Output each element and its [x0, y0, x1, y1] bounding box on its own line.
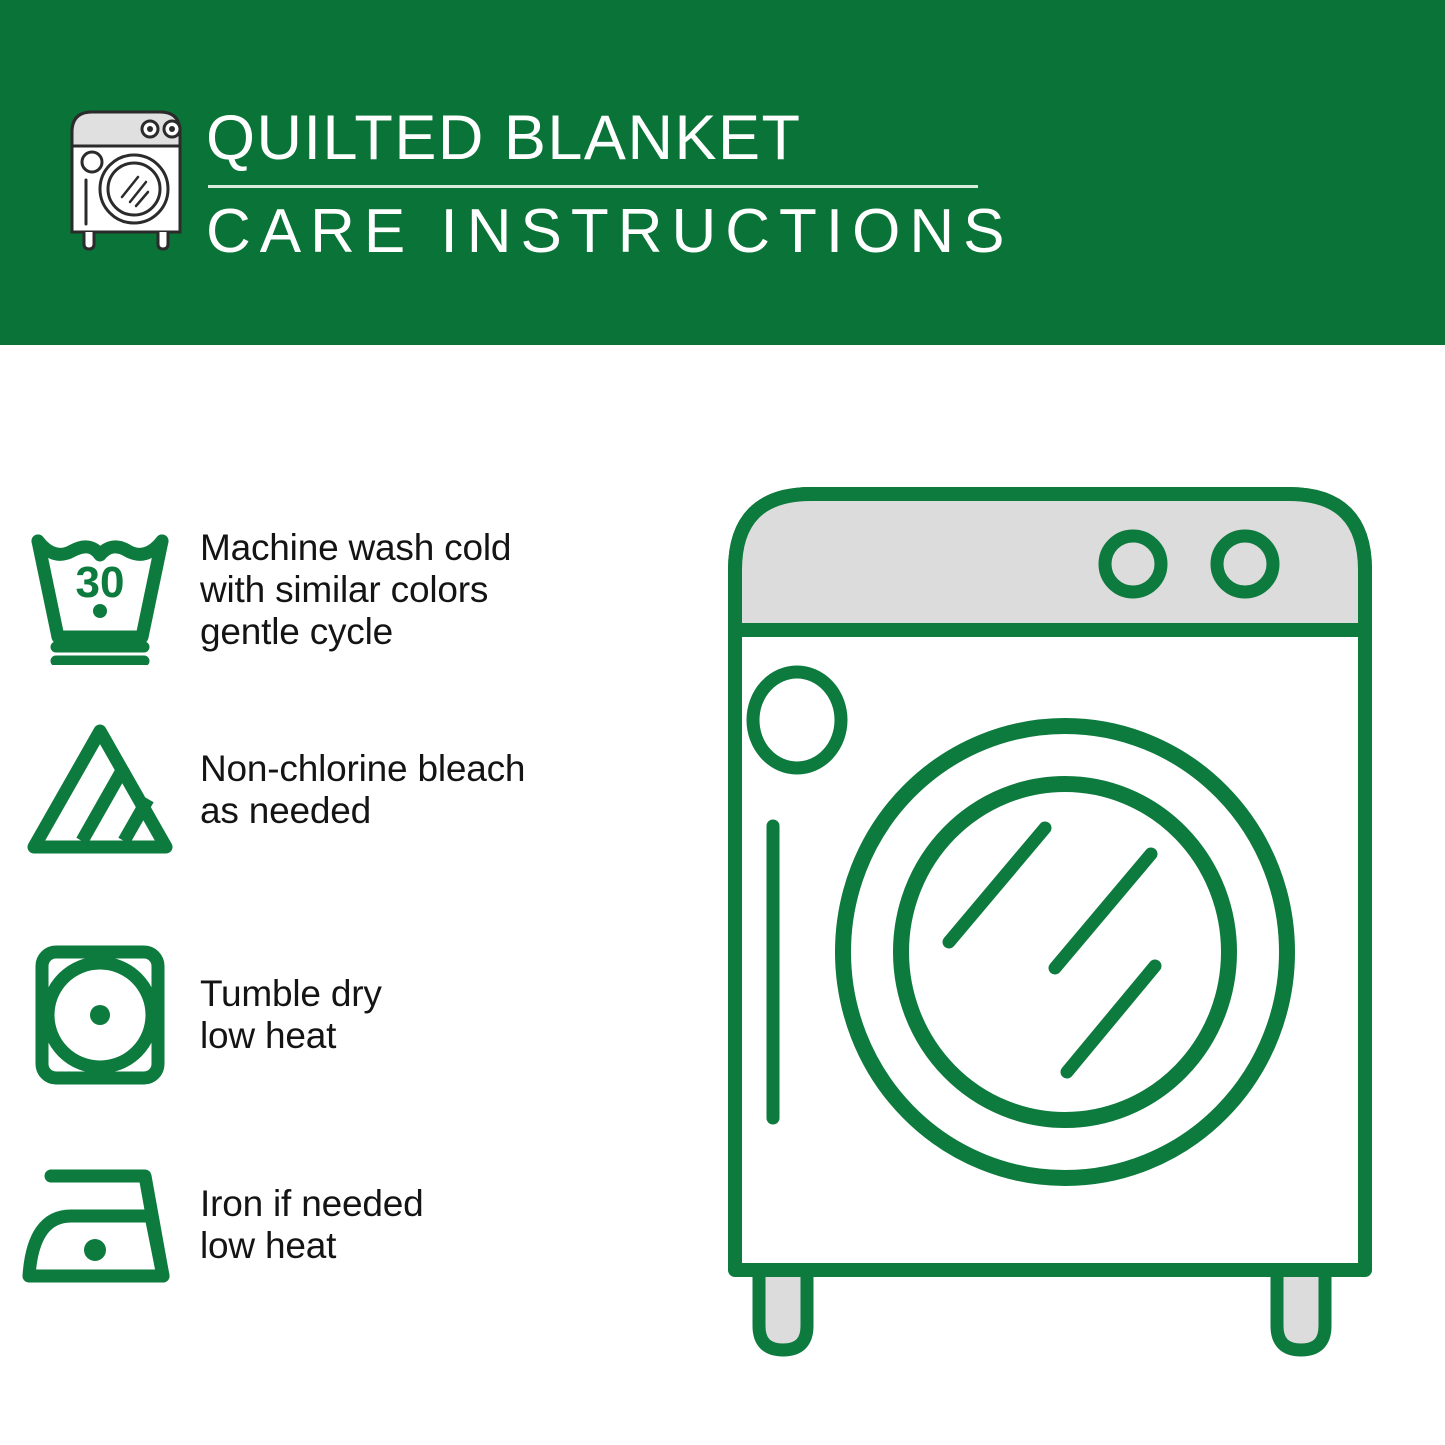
care-instructions-infographic: QUILTED BLANKET CARE INSTRUCTIONS 30 Mac… [0, 0, 1445, 1445]
care-text-bleach: Non-chlorine bleach as needed [200, 748, 525, 832]
care-text-line: with similar colors [200, 569, 511, 611]
machine-dial [753, 672, 841, 768]
care-text-tumble-dry: Tumble dry low heat [200, 973, 382, 1057]
washing-machine-icon [62, 102, 190, 252]
control-knob-2 [1217, 536, 1273, 592]
care-text-line: Tumble dry [200, 973, 382, 1015]
header-banner: QUILTED BLANKET CARE INSTRUCTIONS [0, 0, 1445, 345]
header-title-group: QUILTED BLANKET CARE INSTRUCTIONS [206, 100, 996, 270]
care-row-bleach: Non-chlorine bleach as needed [0, 700, 700, 880]
iron-low-heat-icon [0, 1160, 200, 1290]
bleach-triangle-icon [0, 715, 200, 865]
care-row-tumble-dry: Tumble dry low heat [0, 925, 700, 1105]
care-text-line: Non-chlorine bleach [200, 748, 525, 790]
page-title: QUILTED BLANKET [206, 100, 996, 176]
control-knob-1 [1105, 536, 1161, 592]
care-text-line: low heat [200, 1225, 423, 1267]
washing-machine-illustration [715, 470, 1415, 1370]
care-text-iron: Iron if needed low heat [200, 1183, 423, 1267]
care-row-iron: Iron if needed low heat [0, 1135, 700, 1315]
care-text-line: as needed [200, 790, 525, 832]
care-row-wash: 30 Machine wash cold with similar colors… [0, 495, 700, 685]
machine-legs [759, 1266, 1325, 1350]
title-divider [208, 185, 978, 188]
wash-basin-30-icon: 30 [0, 515, 200, 665]
care-text-line: gentle cycle [200, 611, 511, 653]
care-text-line: Iron if needed [200, 1183, 423, 1225]
wash-temperature-label: 30 [76, 558, 125, 607]
care-text-line: low heat [200, 1015, 382, 1057]
tumble-dry-low-icon [0, 940, 200, 1090]
care-text-wash: Machine wash cold with similar colors ge… [200, 527, 511, 653]
care-text-line: Machine wash cold [200, 527, 511, 569]
care-instruction-list: 30 Machine wash cold with similar colors… [0, 345, 700, 1445]
page-subtitle: CARE INSTRUCTIONS [206, 194, 996, 270]
